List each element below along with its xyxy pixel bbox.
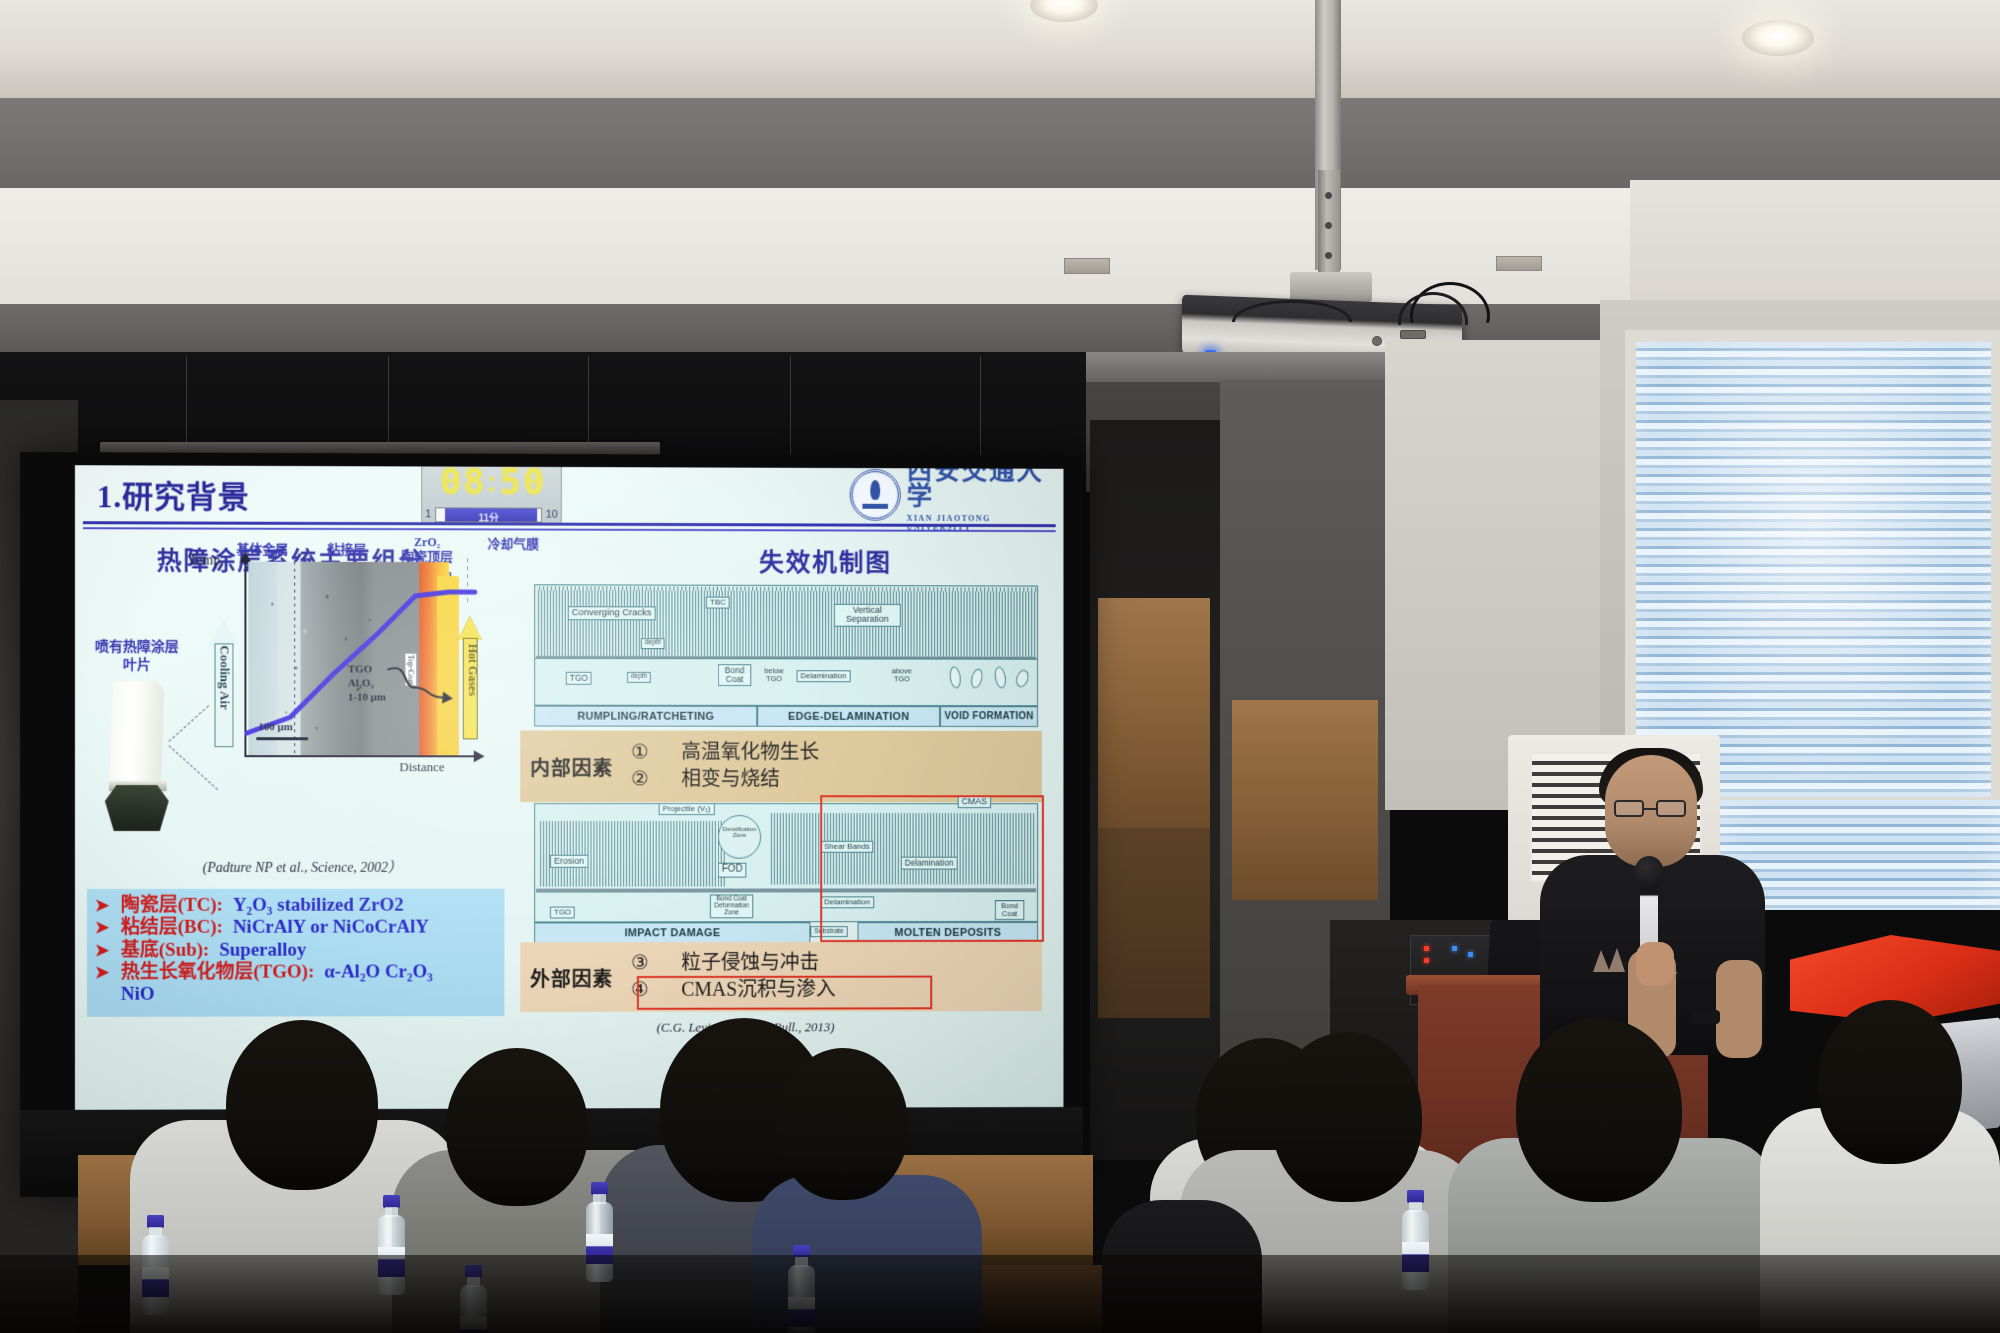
presentation-slide: 1.研究背景 0 8 : 5 0 1 11分 10 西安交通大学 [75,465,1064,1110]
presenter-left-arm [1716,960,1762,1058]
logo-chinese-name: 西安交通大学 [907,465,1056,510]
timer-display: 0 8 : 5 0 [425,465,558,503]
timer-digit-4: 0 [523,465,543,501]
projector-vga-port [1400,330,1426,339]
label-erosion: Erosion [550,855,588,868]
bullet-cn: 热生长氧化物层(TGO): [121,961,314,983]
ceiling-vent [1064,258,1110,274]
bullet-arrow-icon: ➤ [95,896,117,915]
internal-factors-title: 内部因素 [520,752,631,781]
cmas-factor-highlight-box [637,976,932,1010]
factor-text: 高温氧化物生长 [681,742,819,764]
tbc-columnar-structure [536,590,1036,658]
presenter-hand [1636,942,1674,986]
label-tgo-bottom: TGO [550,907,575,919]
blade-label: 喷有热障涂层叶片 [91,639,183,674]
label-depth-top: depth [641,638,665,649]
band-rumpling-ratcheting: RUMPLING/RATCHETING [534,706,757,727]
timer-colon: : [487,466,497,500]
label-above-tgo: above TGO [885,667,918,683]
slide-title: 1.研究背景 [97,471,250,516]
internal-factor-1: ① 高温氧化物生长 [631,740,819,767]
tbc-layer-bullet-list: ➤ 陶瓷层(TC): Y₂O₃ stabilized ZrO2 ➤ 粘结层(BC… [87,889,505,1017]
projector-audio-port [1372,336,1382,346]
label-converging-cracks: Converging Cracks [568,606,656,620]
tgo-line-2: Al₂O₃ [348,677,374,689]
left-citation: (Padture NP et al., Science, 2002） [203,857,402,877]
window-blinds[interactable] [1636,342,1991,797]
band-edge-delamination: EDGE-DELAMINATION [757,706,940,727]
wood-wall-panel [1098,828,1210,1018]
bullet-en: Y₂O₃ stabilized ZrO2 [233,895,404,916]
list-item: ➤ 热生长氧化物层(TGO): α-Al₂O Cr₂O₃ [95,961,497,983]
scale-bar [256,737,308,740]
bullet-overflow-nio: NiO [95,983,497,1006]
timer-progress-label: 11分 [436,509,541,522]
timer-range-min: 1 [425,508,431,520]
list-item: ➤ 粘结层(BC): NiCrAlY or NiCoCrAlY [95,917,497,939]
audience-member-head [778,1048,908,1200]
list-item: ➤ 陶瓷层(TC): Y₂O₃ stabilized ZrO2 [95,895,497,917]
label-projectile: Projectile (V₁) [659,803,715,815]
xjtu-seal-icon [850,469,901,521]
label-fod: FOD [718,863,747,877]
turbine-blade-image [103,681,175,831]
ceiling-vent [1496,256,1542,271]
tgo-line-3: 1-10 μm [348,691,386,703]
layer-label-coolingfilm: 冷却气膜 [471,536,556,551]
label-bond-coat: Bond Coat [718,664,751,686]
temperature-profile-figure: Temp. Distance Cooling Air Hot Gases [193,553,471,765]
blade-airfoil [109,681,165,789]
bullet-arrow-icon: ➤ [95,918,117,937]
factor-number: ② [631,766,676,793]
label-densification-zone: Densification Zone [720,827,759,840]
label-tbc: TBC [706,597,730,609]
wood-wall-panel [1098,598,1210,828]
external-factor-3: ③ 粒子侵蚀与冲击 [631,950,836,977]
blade-root [105,785,169,831]
bullet-cn: 基底(Sub): [121,939,209,960]
label-text: Vertical Separation [846,605,889,624]
presenter-wristwatch [1690,1010,1720,1024]
layer-material: ZrO₂ [414,535,440,549]
bullet-arrow-icon: ➤ [95,940,117,959]
label-bondcoat-deformation-zone: Bond Coat Deformation Zone [710,894,753,918]
glasses-icon [1614,800,1690,818]
ceiling-light [1742,20,1814,56]
label-text: above TGO [892,666,912,683]
audience-member-head [446,1048,588,1206]
label-text: below TGO [764,666,783,683]
lecture-hall-photo: 1.研究背景 0 8 : 5 0 1 11分 10 西安交通大学 [0,0,2000,1333]
timer-range-max: 10 [546,509,558,521]
timer-digit-1: 0 [440,465,461,500]
bullet-cn: 陶瓷层(TC): [121,895,223,916]
bullet-arrow-icon: ➤ [95,963,117,982]
list-item: ➤ 基底(Sub): Superalloy [95,939,497,961]
audience-member-head [1818,1000,1962,1164]
timer-digit-2: 8 [463,465,483,500]
timer-digit-3: 5 [500,465,520,500]
x-axis-label: Distance [399,759,444,775]
audience-member-head [1272,1032,1422,1202]
label-vertical-separation: Vertical Separation [834,604,901,627]
factor-number: ① [631,740,676,767]
bullet-cn: 粘结层(BC): [121,917,223,938]
internal-factor-2: ② 相变与烧结 [631,766,819,793]
scale-bar-label: 100 μm [258,721,292,733]
internal-factors-items: ① 高温氧化物生长 ② 相变与烧结 [631,740,819,794]
cmas-highlight-box [820,795,1044,942]
right-column-heading: 失效机制图 [759,543,892,579]
bullet-en: NiCrAlY or NiCoCrAlY [233,917,429,938]
label-text: Densification Zone [723,827,757,839]
wall-right-of-screen-top [1086,352,1386,382]
y-axis-label: Temp. [189,553,224,569]
factor-text: 粒子侵蚀与冲击 [681,952,819,974]
projector-bracket [1290,272,1372,302]
cooling-air-label: Cooling Air [217,645,233,710]
tgo-annotation: TGO Al₂O₃ 1-10 μm [348,664,386,705]
foreground-shadow [0,1255,2000,1333]
audience-member-head [1516,1018,1682,1202]
band-impact-damage: IMPACT DAMAGE [534,922,810,943]
tgo-line-1: TGO [348,664,372,676]
factor-text: 相变与烧结 [681,768,780,790]
timer-progress-track[interactable]: 11分 [435,507,542,522]
band-void-formation: VOID FORMATION [940,706,1038,727]
ceiling [0,0,2000,100]
label-tgo: TGO [566,672,592,685]
external-factors-title: 外部因素 [520,963,631,992]
university-logo: 西安交通大学 XIAN JIAOTONG UNIVERSITY [850,465,1056,526]
bullet-en: α-Al₂O Cr₂O₃ [324,961,433,982]
wood-wall-panel [1232,700,1378,900]
label-text: Bond Coat [725,665,745,684]
audience-member-head [226,1020,378,1190]
factor-number: ③ [631,950,676,977]
internal-factors-box: 内部因素 ① 高温氧化物生长 ② 相变与烧结 [520,730,1042,802]
microphone-head-icon [1634,856,1664,890]
label-text: Bond Coat Deformation Zone [714,895,749,915]
label-depth-mid: depth [627,672,651,683]
label-delamination-top: Delamination [797,670,851,682]
tgo-pointer-arrow [386,658,453,712]
ceiling-dark-band [0,98,2000,190]
layer-name: 冷却气膜 [488,536,539,551]
label-below-tgo: below TGO [757,667,790,683]
bullet-en: Superalloy [219,939,306,960]
